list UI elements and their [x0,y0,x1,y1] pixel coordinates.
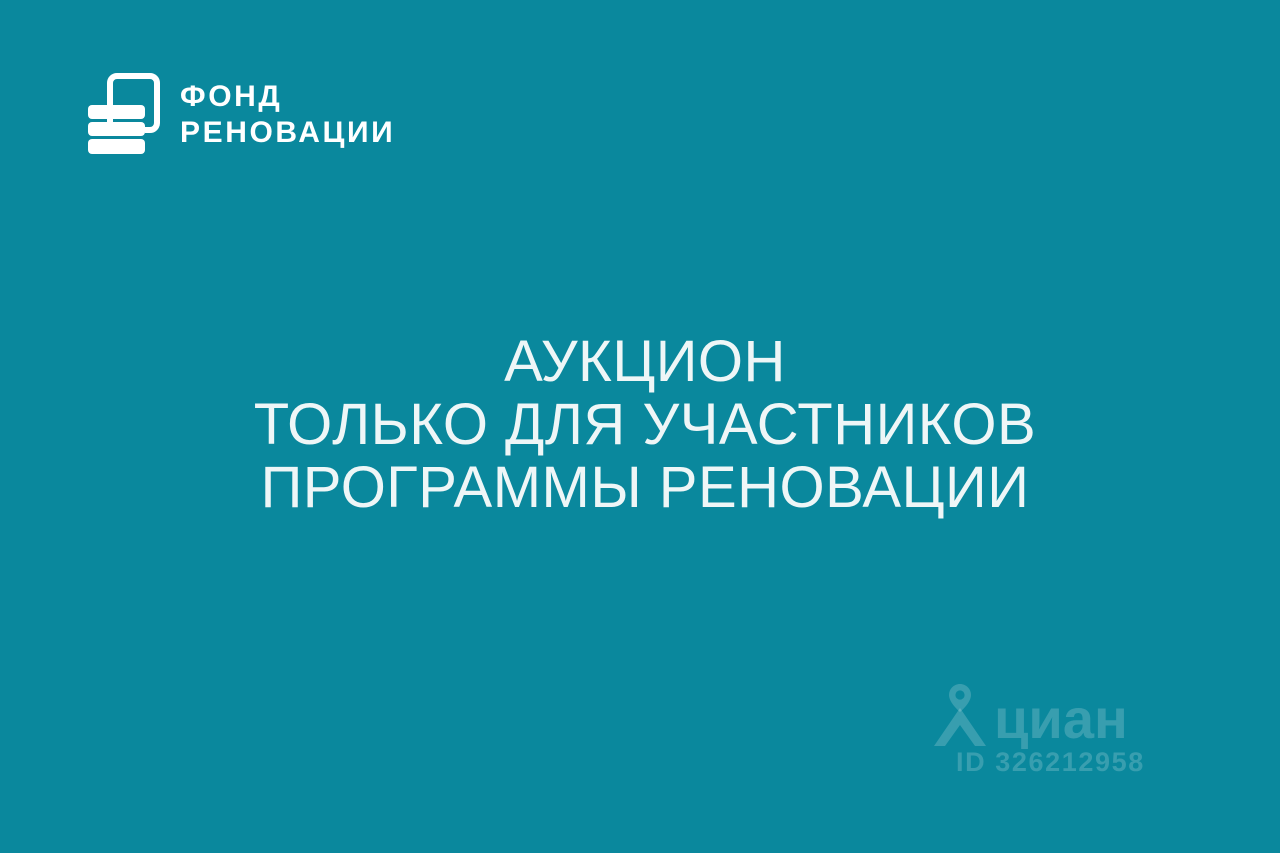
headline-line-2: ТОЛЬКО ДЛЯ УЧАСТНИКОВ [10,393,1280,456]
cian-watermark: циан ID 326212958 [932,684,1168,780]
headline: АУКЦИОН ТОЛЬКО ДЛЯ УЧАСТНИКОВ ПРОГРАММЫ … [0,330,1280,519]
cian-pin-house-icon [932,684,988,746]
auction-banner: ФОНД РЕНОВАЦИИ АУКЦИОН ТОЛЬКО ДЛЯ УЧАСТН… [0,0,1280,853]
cian-watermark-id: ID 326212958 [956,747,1168,777]
cian-watermark-row: циан [932,684,1168,746]
brand-logo: ФОНД РЕНОВАЦИИ [86,72,395,158]
headline-line-3: ПРОГРАММЫ РЕНОВАЦИИ [10,456,1280,519]
stacked-documents-icon [86,72,162,158]
cian-watermark-word: циан [994,694,1128,744]
brand-wordmark-line-1: ФОНД [180,79,395,115]
brand-wordmark: ФОНД РЕНОВАЦИИ [180,79,395,151]
brand-wordmark-line-2: РЕНОВАЦИИ [180,115,395,151]
headline-line-1: АУКЦИОН [10,330,1280,393]
